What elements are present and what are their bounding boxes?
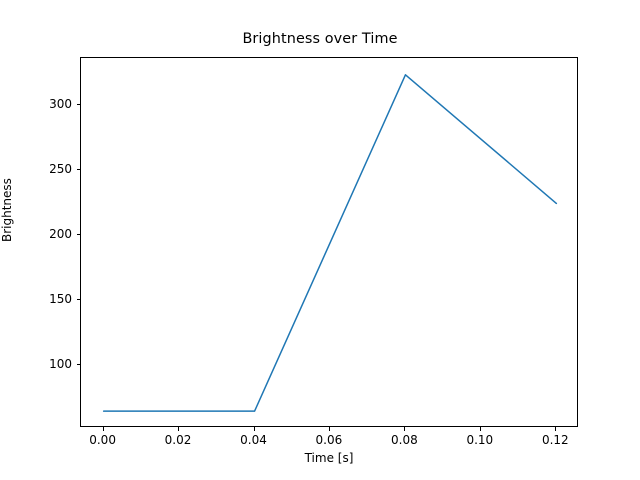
ytick-mark-150 xyxy=(77,299,81,300)
xtick-mark-0.06 xyxy=(329,427,330,431)
ytick-mark-200 xyxy=(77,234,81,235)
xtick-label-0.08: 0.08 xyxy=(391,433,418,447)
ytick-label-100: 100 xyxy=(30,357,72,371)
xtick-label-0.12: 0.12 xyxy=(542,433,569,447)
ytick-label-200: 200 xyxy=(30,227,72,241)
xtick-label-0.04: 0.04 xyxy=(240,433,267,447)
series-polyline-brightness xyxy=(104,75,557,411)
data-line-series xyxy=(81,58,579,428)
xtick-mark-0.04 xyxy=(254,427,255,431)
xtick-mark-0.10 xyxy=(480,427,481,431)
ytick-label-250: 250 xyxy=(30,162,72,176)
xtick-label-0.06: 0.06 xyxy=(316,433,343,447)
ytick-mark-250 xyxy=(77,169,81,170)
xtick-label-0.00: 0.00 xyxy=(89,433,116,447)
xtick-mark-0.08 xyxy=(404,427,405,431)
xtick-mark-0.12 xyxy=(555,427,556,431)
plot-area xyxy=(80,57,578,427)
ytick-label-150: 150 xyxy=(30,292,72,306)
xtick-mark-0.02 xyxy=(178,427,179,431)
ytick-mark-100 xyxy=(77,364,81,365)
xtick-label-0.10: 0.10 xyxy=(466,433,493,447)
figure-canvas: Brightness over Time 100 150 200 250 300… xyxy=(0,0,640,480)
ytick-mark-300 xyxy=(77,104,81,105)
xtick-label-0.02: 0.02 xyxy=(165,433,192,447)
ytick-label-300: 300 xyxy=(30,97,72,111)
y-axis-label-text: Brightness xyxy=(0,102,14,242)
xtick-mark-0.00 xyxy=(103,427,104,431)
y-axis-label: Brightness xyxy=(0,102,14,242)
x-axis-label: Time [s] xyxy=(80,451,578,465)
chart-title: Brightness over Time xyxy=(0,30,640,48)
